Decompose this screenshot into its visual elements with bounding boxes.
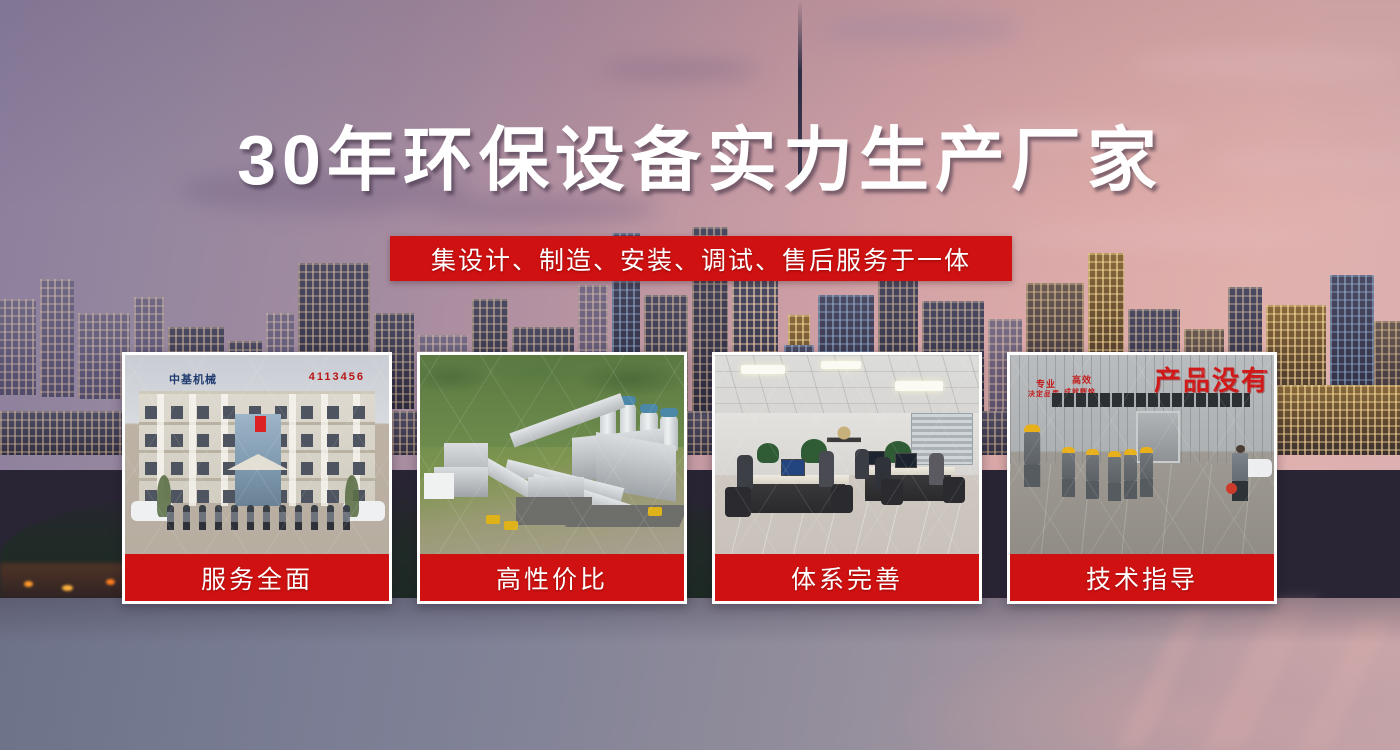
card-caption-text: 服务全面 — [201, 560, 313, 596]
person — [855, 449, 869, 479]
water-reflection — [1203, 598, 1316, 748]
worker — [1024, 425, 1040, 488]
person — [737, 455, 753, 489]
chair — [881, 479, 903, 505]
worker — [1086, 449, 1099, 499]
cloud — [820, 14, 1020, 44]
person — [929, 453, 944, 485]
red-helmet — [1226, 483, 1237, 494]
worker — [1062, 447, 1075, 497]
roof-pediment — [227, 454, 289, 470]
water-reflection — [1298, 618, 1391, 748]
water-reflection — [1116, 608, 1210, 748]
office-building — [139, 391, 375, 503]
ceiling-light — [821, 361, 861, 369]
chair — [725, 487, 751, 517]
ceiling-light — [741, 365, 785, 374]
ceiling-light — [895, 381, 943, 391]
road — [565, 505, 684, 527]
feature-card[interactable]: 高性价比 — [417, 352, 687, 604]
plant-shed — [424, 473, 454, 499]
feature-card-list: 中基机械 4113456 服务全面 — [0, 352, 1400, 604]
monitor — [781, 459, 805, 476]
card-caption: 高性价比 — [420, 554, 684, 601]
person — [819, 451, 834, 487]
feature-card[interactable]: 产品没有 专业 决定品质 高效 成就辉煌 — [1007, 352, 1277, 604]
monitor — [895, 453, 917, 468]
worker — [1140, 447, 1153, 497]
company-sign-text: 中基机械 — [169, 371, 217, 387]
card-caption: 体系完善 — [715, 554, 979, 601]
card-caption: 服务全面 — [125, 554, 389, 601]
office-workspace-photo — [715, 355, 979, 554]
phone-number-text: 4113456 — [309, 371, 365, 383]
card-caption: 技术指导 — [1010, 554, 1274, 601]
feature-card[interactable]: 中基机械 4113456 服务全面 — [122, 352, 392, 604]
cloud — [1130, 48, 1400, 82]
wall-logo — [827, 421, 861, 451]
card-caption-text: 高性价比 — [496, 560, 608, 596]
hard-hat-icon — [1024, 425, 1040, 433]
aerial-production-plant-photo — [420, 355, 684, 554]
slogan-text: 高效 — [1072, 373, 1092, 386]
card-caption-text: 技术指导 — [1086, 560, 1198, 596]
page-title: 30年环保设备实力生产厂家 — [0, 125, 1400, 195]
feature-card[interactable]: 体系完善 — [712, 352, 982, 604]
chair — [943, 477, 965, 503]
subtitle-banner: 集设计、制造、安装、调试、售后服务于一体 — [390, 236, 1012, 281]
excavator — [648, 507, 662, 516]
potted-plant — [757, 443, 779, 463]
chair — [831, 485, 853, 513]
hero-banner: 30年环保设备实力生产厂家 集设计、制造、安装、调试、售后服务于一体 — [0, 0, 1400, 750]
excavator — [486, 515, 500, 524]
subtitle-text: 集设计、制造、安装、调试、售后服务于一体 — [431, 241, 971, 277]
flag — [255, 416, 266, 432]
river-water — [0, 598, 1400, 750]
worker — [1124, 449, 1137, 499]
worker — [1108, 451, 1121, 501]
roof-vent — [1050, 393, 1250, 407]
card-caption-text: 体系完善 — [791, 560, 903, 596]
cloud — [600, 60, 760, 80]
company-headquarters-photo: 中基机械 4113456 — [125, 355, 389, 554]
excavator — [504, 521, 518, 530]
technical-training-photo: 产品没有 专业 决定品质 高效 成就辉煌 — [1010, 355, 1274, 554]
